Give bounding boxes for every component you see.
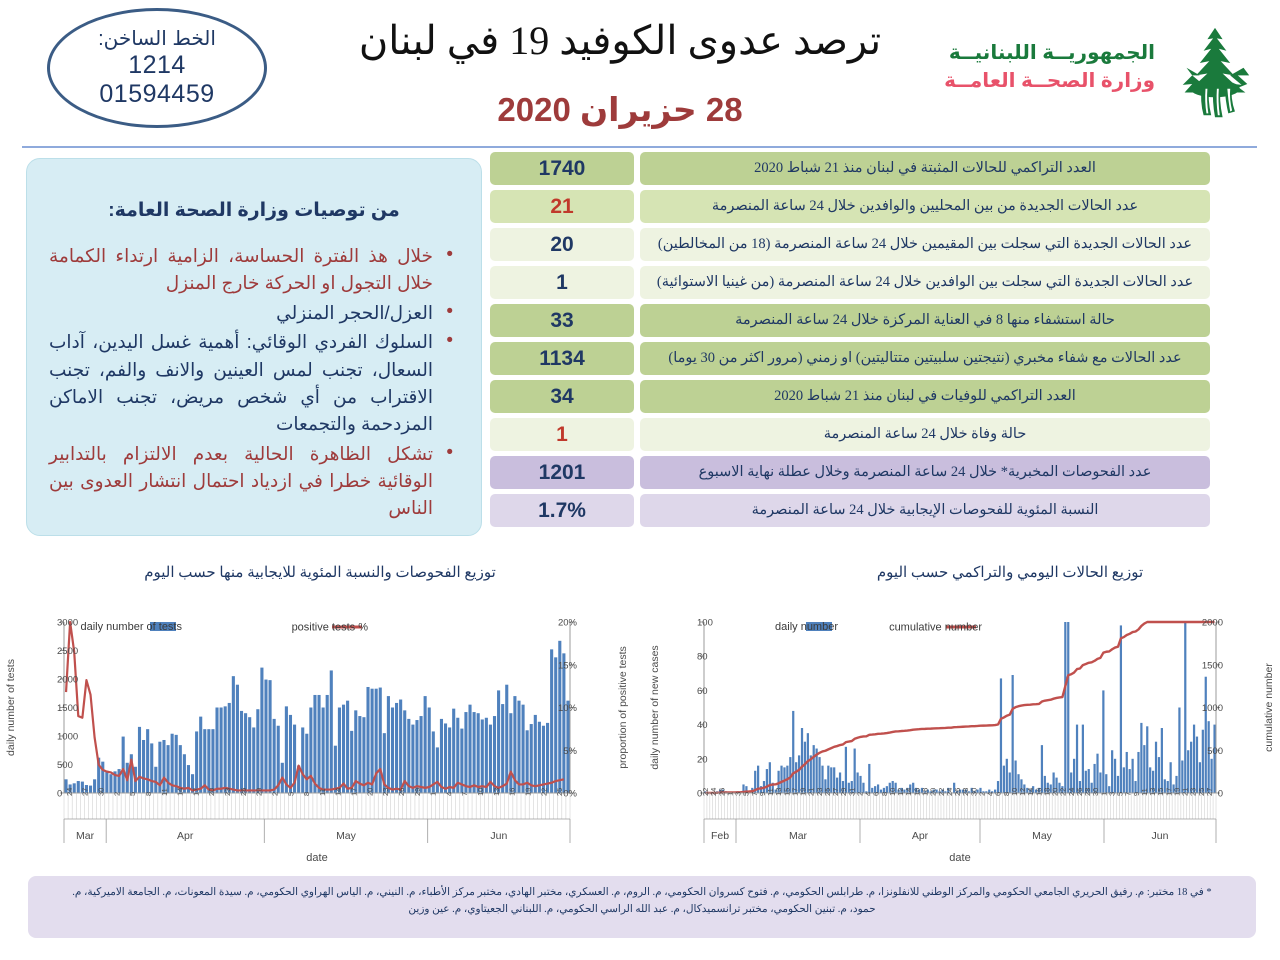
y2-axis-title: proportion of positive tests — [617, 646, 629, 769]
recommendation-item: السلوك الفردي الوقائي: أهمية غسل اليدين،… — [49, 328, 433, 438]
svg-text:14: 14 — [334, 788, 343, 796]
y-tick-label: 2500 — [57, 646, 78, 657]
y2-tick-label: 0 — [1218, 789, 1223, 800]
bar-series — [704, 622, 1215, 793]
stat-value: 1 — [490, 418, 634, 451]
svg-text:17: 17 — [191, 788, 200, 796]
hotline-number-1: 1214 — [128, 51, 186, 80]
recommendations-title: من توصيات وزارة الصحة العامة: — [49, 199, 459, 222]
hotline-number-2: 01594459 — [99, 80, 214, 109]
svg-text:26: 26 — [397, 788, 406, 796]
footnote: * في 18 مختبر: م. رفيق الحريري الجامعي ا… — [28, 876, 1256, 938]
y2-tick-label: 20% — [558, 618, 578, 629]
month-bands: MarAprMayJun — [64, 819, 570, 843]
y2-tick-label: 10% — [558, 703, 578, 714]
statistics-table: العدد التراكمي للحالات المثبتة في لبنان … — [490, 152, 1210, 532]
month-label: May — [336, 830, 357, 842]
svg-text:26: 26 — [239, 788, 248, 796]
y-tick-label: 2000 — [57, 675, 78, 686]
y-tick-label: 40 — [697, 720, 708, 731]
svg-text:2: 2 — [112, 792, 121, 796]
svg-text:24: 24 — [65, 788, 74, 796]
svg-text:cumulative number: cumulative number — [889, 622, 982, 634]
svg-text:5: 5 — [286, 792, 295, 796]
report-page: الخط الساخن: 1214 01594459 ترصد عدوى الك… — [0, 0, 1280, 960]
republic-label: الجمهوريــة اللبنانيــة — [944, 40, 1155, 65]
y2-axis-title: cumulative number — [1263, 663, 1275, 752]
stat-value: 34 — [490, 380, 634, 413]
table-row: العدد التراكمي للحالات المثبتة في لبنان … — [490, 152, 1210, 185]
stat-label: عدد الحالات مع شفاء مخبري (نتيجتين سلبيت… — [640, 342, 1210, 375]
svg-text:8: 8 — [302, 792, 311, 796]
cases-chart: 0204060801000500100015002000222426135791… — [646, 600, 1278, 865]
table-row: عدد الحالات الجديدة من بين المحليين والو… — [490, 190, 1210, 223]
x-tick-labels: 2224261357911131517192123252729312468101… — [701, 788, 1214, 796]
stat-value: 21 — [490, 190, 634, 223]
tests-chart-svg: 0500100015002000250030000%5%10%15%20%242… — [2, 600, 632, 865]
footnote-line-2: حمود، م. تبنين الحكومي، مختبر ترانسميدكا… — [44, 902, 1240, 919]
hotline-badge: الخط الساخن: 1214 01594459 — [47, 8, 267, 128]
svg-text:11: 11 — [318, 788, 327, 796]
stat-label: حالة استشفاء منها 8 في العناية المركزة خ… — [640, 304, 1210, 337]
svg-text:19: 19 — [523, 788, 532, 796]
svg-text:daily number of tests: daily number of tests — [81, 621, 183, 633]
y-tick-label: 0 — [57, 789, 62, 800]
stat-value: 1.7% — [490, 494, 634, 527]
table-row: عدد الحالات الجديدة التي سجلت بين المقيم… — [490, 228, 1210, 261]
y-tick-label: 1500 — [57, 703, 78, 714]
svg-text:daily number: daily number — [775, 621, 838, 633]
stat-value: 1 — [490, 266, 634, 299]
month-label: Apr — [912, 830, 929, 842]
month-label: Jun — [490, 830, 507, 842]
svg-text:1: 1 — [429, 792, 438, 796]
stat-label: النسبة المئوية للفحوصات الإيجابية خلال 2… — [640, 494, 1210, 527]
recommendation-item: العزل/الحجر المنزلي — [49, 299, 433, 326]
ministry-logo-text: الجمهوريــة اللبنانيــة وزارة الصحــة ال… — [944, 40, 1155, 93]
month-label: Feb — [711, 830, 729, 842]
y-tick-label: 100 — [697, 618, 713, 629]
month-label: Mar — [76, 830, 95, 842]
stat-label: عدد الحالات الجديدة التي سجلت بين المقيم… — [640, 228, 1210, 261]
y2-tick-label: 5% — [563, 746, 577, 757]
svg-text:2: 2 — [270, 792, 279, 796]
svg-text:25: 25 — [555, 788, 564, 796]
stat-label: عدد الفحوصات المخبرية* خلال 24 ساعة المن… — [640, 456, 1210, 489]
svg-text:22: 22 — [539, 788, 548, 796]
svg-text:16: 16 — [508, 788, 517, 796]
table-row: عدد الحالات مع شفاء مخبري (نتيجتين سلبيت… — [490, 342, 1210, 375]
svg-text:27: 27 — [81, 788, 90, 796]
svg-text:13: 13 — [492, 788, 501, 796]
y2-tick-label: 1000 — [1202, 703, 1223, 714]
recommendation-item: تشكل الظاهرة الحالية بعدم الالتزام بالتد… — [49, 440, 433, 522]
x-axis-title: date — [306, 852, 327, 864]
month-label: Mar — [789, 830, 808, 842]
table-row: النسبة المئوية للفحوصات الإيجابية خلال 2… — [490, 494, 1210, 527]
table-row: عدد الحالات الجديدة التي سجلت بين الوافد… — [490, 266, 1210, 299]
month-label: May — [1032, 830, 1053, 842]
stat-value: 20 — [490, 228, 634, 261]
stat-value: 1201 — [490, 456, 634, 489]
y2-tick-label: 1500 — [1202, 660, 1223, 671]
table-row: عدد الفحوصات المخبرية* خلال 24 ساعة المن… — [490, 456, 1210, 489]
y-axis-title: daily number of new cases — [649, 645, 661, 769]
svg-text:14: 14 — [176, 788, 185, 796]
y-axis-title: daily number of tests — [5, 659, 17, 756]
y-tick-label: 3000 — [57, 618, 78, 629]
month-bands: FebMarAprMayJun — [704, 819, 1216, 843]
stat-value: 1740 — [490, 152, 634, 185]
recommendations-panel: من توصيات وزارة الصحة العامة: خلال هذ ال… — [26, 158, 482, 536]
svg-text:% positive tests: % positive tests — [292, 622, 369, 634]
svg-text:20: 20 — [365, 788, 374, 796]
ministry-label: وزارة الصحــة العامــة — [944, 68, 1155, 93]
svg-text:29: 29 — [413, 788, 422, 796]
footnote-line-1: * في 18 مختبر: م. رفيق الحريري الجامعي ا… — [44, 885, 1240, 902]
svg-text:23: 23 — [223, 788, 232, 796]
cases-chart-caption: توزيع الحالات اليومي والتراكمي حسب اليوم — [800, 563, 1220, 582]
recommendations-list: خلال هذ الفترة الحساسة، الزامية ارتداء ا… — [49, 242, 459, 522]
y2-tick-label: 2000 — [1202, 618, 1223, 629]
svg-text:20: 20 — [207, 788, 216, 796]
y-tick-label: 60 — [697, 686, 708, 697]
stat-value: 33 — [490, 304, 634, 337]
svg-text:30: 30 — [97, 788, 106, 796]
svg-text:11: 11 — [160, 788, 169, 796]
y-tick-label: 1000 — [57, 732, 78, 743]
stat-label: حالة وفاة خلال 24 ساعة المنصرمة — [640, 418, 1210, 451]
svg-text:10: 10 — [476, 788, 485, 796]
svg-text:4: 4 — [444, 792, 453, 796]
month-label: Apr — [177, 830, 194, 842]
stat-label: العدد التراكمي للوفيات في لبنان منذ 21 ش… — [640, 380, 1210, 413]
table-row: حالة استشفاء منها 8 في العناية المركزة خ… — [490, 304, 1210, 337]
hotline-label: الخط الساخن: — [98, 28, 216, 51]
y2-tick-label: 15% — [558, 660, 578, 671]
tests-chart-caption: توزيع الفحوصات والنسبة المئوية للايجابية… — [110, 563, 530, 582]
cedar-tree-icon — [1165, 26, 1265, 121]
stat-label: عدد الحالات الجديدة التي سجلت بين الوافد… — [640, 266, 1210, 299]
report-date: 28 حزيران 2020 — [320, 92, 920, 128]
y-tick-label: 500 — [57, 760, 73, 771]
stat-value: 1134 — [490, 342, 634, 375]
cases-chart-svg: 0204060801000500100015002000222426135791… — [646, 600, 1278, 865]
svg-text:29: 29 — [255, 788, 264, 796]
svg-text:17: 17 — [350, 788, 359, 796]
svg-text:7: 7 — [460, 792, 469, 796]
month-label: Jun — [1152, 830, 1169, 842]
tests-chart: 0500100015002000250030000%5%10%15%20%242… — [2, 600, 632, 865]
stat-label: عدد الحالات الجديدة من بين المحليين والو… — [640, 190, 1210, 223]
svg-text:5: 5 — [128, 792, 137, 796]
y2-tick-label: 0% — [563, 789, 577, 800]
chart-legend: daily numbercumulative number — [775, 621, 982, 634]
bar-series — [64, 641, 569, 793]
y-tick-label: 80 — [697, 652, 708, 663]
svg-text:23: 23 — [381, 788, 390, 796]
stat-label: العدد التراكمي للحالات المثبتة في لبنان … — [640, 152, 1210, 185]
svg-text:8: 8 — [144, 792, 153, 796]
table-row: حالة وفاة خلال 24 ساعة المنصرمة1 — [490, 418, 1210, 451]
page-title: ترصد عدوى الكوفيد 19 في لبنان — [320, 18, 920, 64]
table-row: العدد التراكمي للوفيات في لبنان منذ 21 ش… — [490, 380, 1210, 413]
ministry-logo: الجمهوريــة اللبنانيــة وزارة الصحــة ال… — [940, 18, 1270, 128]
recommendation-item: خلال هذ الفترة الحساسة، الزامية ارتداء ا… — [49, 242, 433, 297]
y2-tick-label: 500 — [1207, 746, 1223, 757]
chart-legend: daily number of tests% positive tests — [81, 621, 369, 634]
x-axis-title: date — [949, 852, 970, 864]
y-tick-label: 20 — [697, 754, 708, 765]
header-divider — [22, 146, 1257, 148]
svg-text:27: 27 — [1205, 788, 1214, 796]
